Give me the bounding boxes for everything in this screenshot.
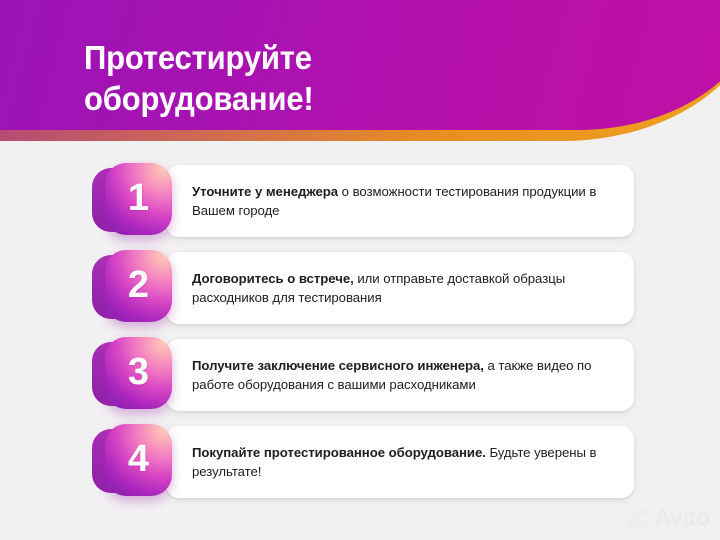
step-number: 3 [128,353,149,391]
step-text: Уточните у менеджера о возможности тести… [166,182,634,220]
page-title: Протестируйте оборудование! [84,38,479,120]
list-item: Договоритесь о встрече, или отправьте до… [0,250,720,337]
badge-front-plate: 2 [105,250,172,322]
poster-canvas: Протестируйте оборудование! Уточните у м… [0,0,720,540]
avito-wordmark: Avito [654,506,710,530]
step-text-bold: Получите заключение сервисного инженера, [192,358,484,373]
avito-watermark: Avito [624,506,710,530]
step-text: Покупайте протестированное оборудование.… [166,443,634,481]
step-number-badge: 3 [92,337,172,412]
step-text: Получите заключение сервисного инженера,… [166,356,634,394]
step-card[interactable]: Договоритесь о встрече, или отправьте до… [166,252,634,324]
list-item: Уточните у менеджера о возможности тести… [0,163,720,250]
step-card[interactable]: Покупайте протестированное оборудование.… [166,426,634,498]
step-card[interactable]: Получите заключение сервисного инженера,… [166,339,634,411]
step-number: 4 [128,440,149,478]
step-card[interactable]: Уточните у менеджера о возможности тести… [166,165,634,237]
step-text-bold: Уточните у менеджера [192,184,338,199]
step-number-badge: 2 [92,250,172,325]
list-item: Получите заключение сервисного инженера,… [0,337,720,424]
step-number: 2 [128,266,149,304]
list-item: Покупайте протестированное оборудование.… [0,424,720,511]
step-number: 1 [128,179,149,217]
steps-list: Уточните у менеджера о возможности тести… [0,163,720,511]
avito-dots-icon [624,507,650,529]
step-text: Договоритесь о встрече, или отправьте до… [166,269,634,307]
step-text-bold: Договоритесь о встрече, [192,271,354,286]
badge-front-plate: 4 [105,424,172,496]
badge-front-plate: 1 [105,163,172,235]
step-number-badge: 4 [92,424,172,499]
header-banner: Протестируйте оборудование! [0,0,720,160]
step-text-bold: Покупайте протестированное оборудование. [192,445,486,460]
step-number-badge: 1 [92,163,172,238]
badge-front-plate: 3 [105,337,172,409]
